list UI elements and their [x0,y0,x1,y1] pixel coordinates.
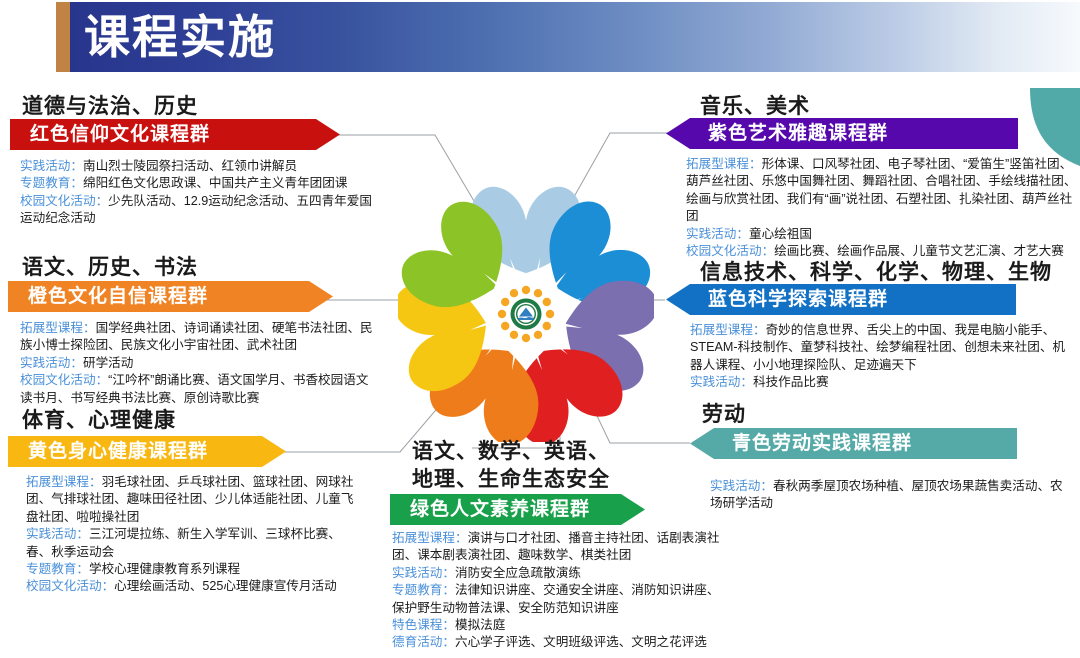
detail-label: 专题教育： [26,562,89,576]
detail-label: 特色课程： [392,618,455,632]
detail-label: 拓展型课程： [392,531,468,545]
detail-label: 实践活动： [686,227,749,241]
detail-label: 实践活动： [392,566,455,580]
subject-label-yellow: 体育、心理健康 [22,404,176,434]
subject-label-green: 语文、数学、英语、 地理、生命生态安全 [412,437,610,493]
subject-label-orange: 语文、历史、书法 [22,251,198,281]
detail-text: 心理绘画活动、525心理健康宣传月活动 [114,579,337,593]
banner-green[interactable]: 绿色人文素养课程群 [390,494,645,525]
detail-text: 学校心理健康教育系列课程 [89,562,240,576]
school-emblem [511,299,542,330]
detail-label: 校园文化活动： [26,579,114,593]
subject-label-purple: 音乐、美术 [700,90,810,120]
detail-text: 消防安全应急疏散演练 [455,566,581,580]
banner-yellow[interactable]: 黄色身心健康课程群 [8,436,286,467]
subject-label-red: 道德与法治、历史 [22,90,198,120]
banner-blue[interactable]: 蓝色科学探索课程群 [666,284,1016,315]
seven-petal-flower-graphic [398,186,654,442]
banner-teal[interactable]: 青色劳动实践课程群 [690,428,1017,459]
detail-block-yellow: 拓展型课程：羽毛球社团、乒乓球社团、篮球社团、网球社团、气排球社团、趣味田径社团… [26,474,362,596]
detail-label: 拓展型课程： [686,157,762,171]
detail-text: 童心绘祖国 [749,227,812,241]
subject-label-teal: 劳动 [702,398,746,428]
detail-block-teal: 实践活动：春秋两季屋顶农场种植、屋顶农场果蔬售卖活动、农场研学活动 [710,478,1070,513]
detail-block-purple: 拓展型课程：形体课、口风琴社团、电子琴社团、“爱笛生”竖笛社团、葫芦丝社团、乐悠… [686,156,1078,260]
detail-block-orange: 拓展型课程：国学经典社团、诗词诵读社团、硬笔书法社团、民族小博士探险团、民族文化… [20,320,378,407]
detail-text: 六心学子评选、文明班级评选、文明之花评选 [455,635,707,649]
detail-text: 研学活动 [83,356,133,370]
detail-label: 德育活动： [392,635,455,649]
detail-text: 绵阳红色文化思政课、中国共产主义青年团团课 [83,176,347,190]
detail-label: 校园文化活动： [20,373,108,387]
detail-text: 科技作品比赛 [753,375,829,389]
detail-label: 专题教育： [20,176,83,190]
banner-purple[interactable]: 紫色艺术雅趣课程群 [666,118,1018,149]
detail-label: 校园文化活动： [20,194,108,208]
banner-orange[interactable]: 橙色文化自信课程群 [8,281,333,312]
detail-label: 专题教育： [392,583,455,597]
detail-block-red: 实践活动：南山烈士陵园祭扫活动、红领巾讲解员 专题教育：绵阳红色文化思政课、中国… [20,158,378,228]
detail-label: 拓展型课程： [20,321,96,335]
detail-label: 实践活动： [20,356,83,370]
detail-block-green: 拓展型课程：演讲与口才社团、播音主持社团、话剧表演社团、课本剧表演社团、趣味数学… [392,530,722,652]
detail-label: 实践活动： [710,479,773,493]
detail-block-blue: 拓展型课程：奇妙的信息世界、舌尖上的中国、我是电脑小能手、STEAM-科技制作、… [690,322,1076,392]
detail-text: 南山烈士陵园祭扫活动、红领巾讲解员 [83,159,297,173]
detail-label: 实践活动： [20,159,83,173]
detail-label: 拓展型课程： [26,475,102,489]
detail-text: 模拟法庭 [455,618,505,632]
slide-canvas: 课程实施 [0,0,1080,658]
detail-label: 拓展型课程： [690,323,766,337]
banner-red[interactable]: 红色信仰文化课程群 [10,119,340,150]
subject-label-blue: 信息技术、科学、化学、物理、生物 [700,256,1052,286]
detail-label: 实践活动： [690,375,753,389]
detail-label: 实践活动： [26,527,89,541]
